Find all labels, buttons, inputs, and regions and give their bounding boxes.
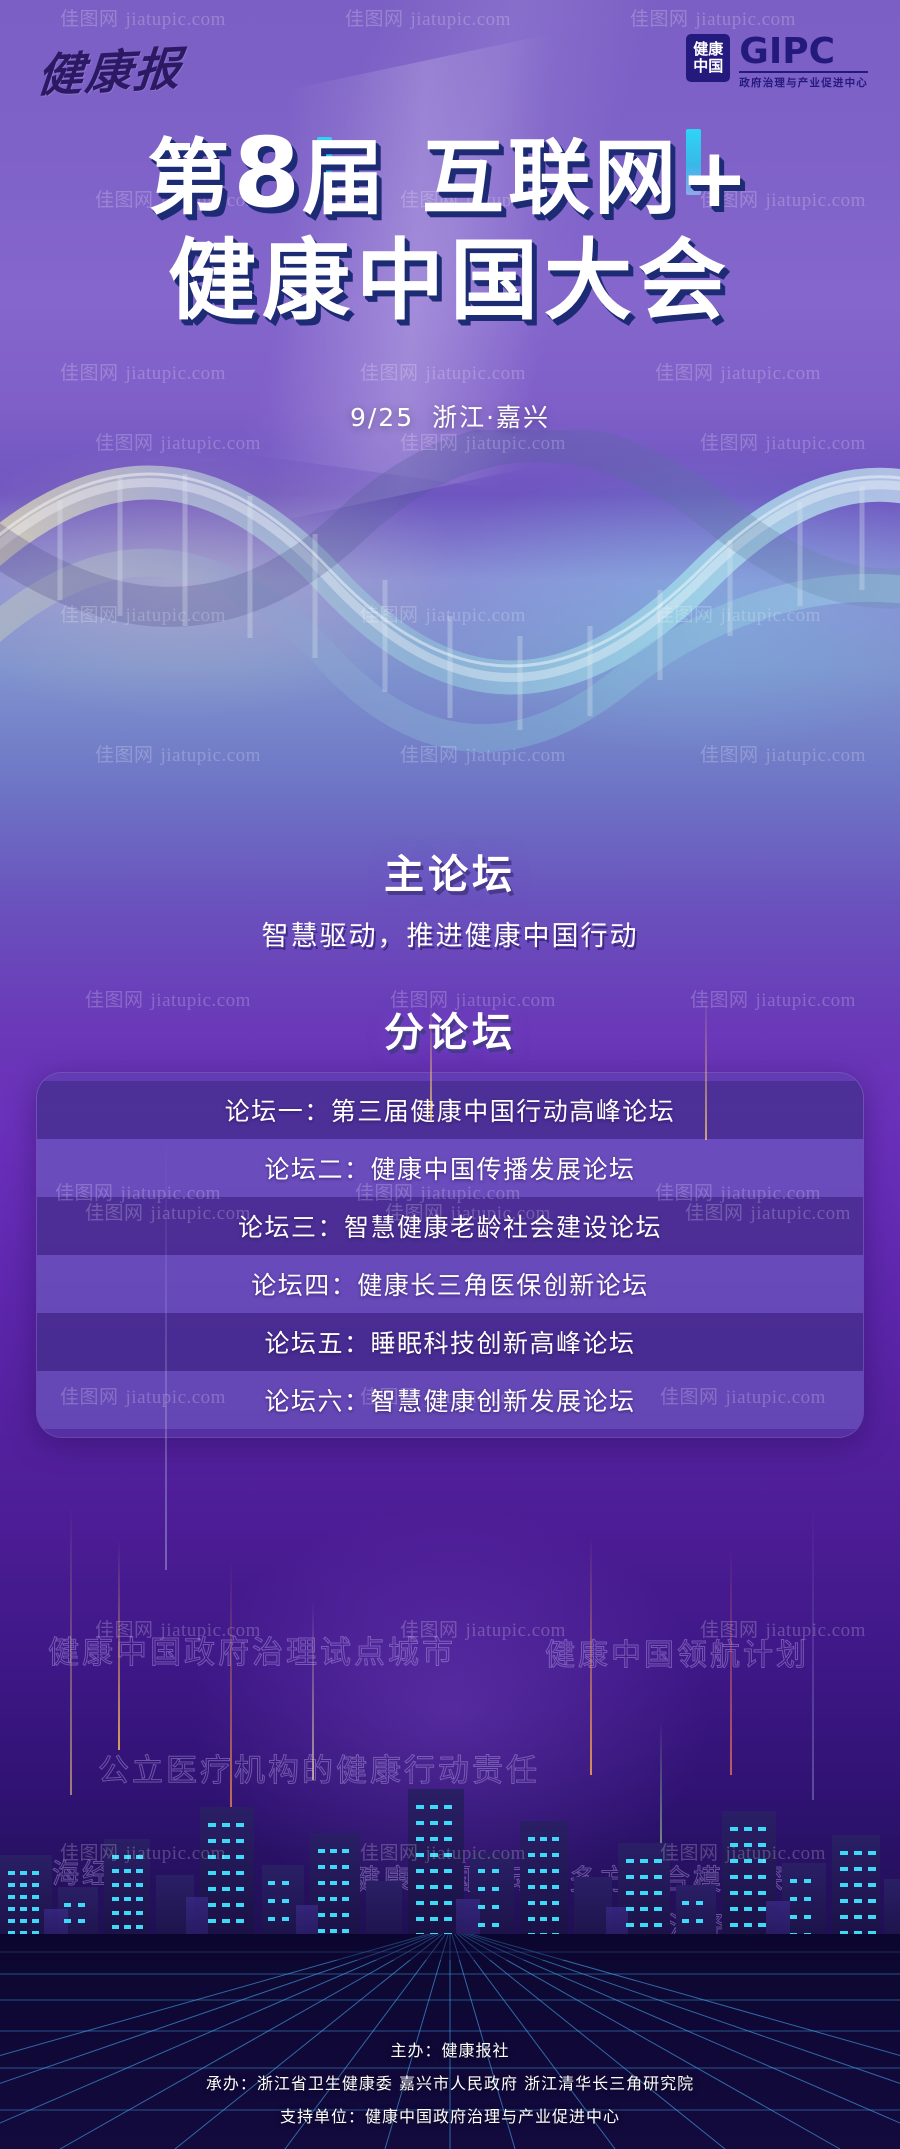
light-line [705, 990, 707, 1140]
main-forum-block: 主论坛 智慧驱动，推进健康中国行动 [0, 842, 900, 953]
title-block: 第8届互联网+ 健康中国大会 [0, 125, 900, 325]
background-topic-text: 健康中国领航计划 [545, 1630, 809, 1674]
forum-list-item[interactable]: 论坛四：健康长三角医保创新论坛 [37, 1255, 863, 1313]
gipc-subtitle: 政府治理与产业促进中心 [739, 75, 868, 90]
credit-organizer: 主办：健康报社 [0, 2037, 900, 2061]
title-prefix: 第 [147, 131, 233, 226]
gipc-badge-line1: 健康 [693, 41, 723, 58]
main-forum-theme: 智慧驱动，推进健康中国行动 [0, 914, 900, 953]
forum-list-item[interactable]: 论坛六：智慧健康创新发展论坛 [37, 1371, 863, 1429]
title-line-2: 健康中国大会 [0, 237, 900, 325]
sub-forum-block: 分论坛 [0, 1000, 900, 1058]
light-line [118, 1540, 120, 1750]
forum-list-item[interactable]: 论坛二：健康中国传播发展论坛 [37, 1139, 863, 1197]
poster-header: 健康报 健康 中国 GIPC 政府治理与产业促进中心 [0, 30, 900, 100]
poster-canvas: 健康报 健康 中国 GIPC 政府治理与产业促进中心 第8届互联网+ 健康中国大… [0, 0, 900, 2149]
gipc-badge-line2: 中国 [693, 58, 723, 75]
sub-forum-heading: 分论坛 [0, 1000, 900, 1058]
title-edition-number: 8 [233, 117, 302, 229]
light-line [590, 1535, 592, 1775]
dna-helix-graphic [0, 430, 900, 760]
main-forum-heading: 主论坛 [0, 842, 900, 900]
forum-list-item[interactable]: 论坛一：第三届健康中国行动高峰论坛 [37, 1081, 863, 1139]
event-date-location: 9/25浙江·嘉兴 [0, 398, 900, 434]
forum-list-item[interactable]: 论坛五：睡眠科技创新高峰论坛 [37, 1313, 863, 1371]
title-internet-plus: 互联网+ [422, 131, 753, 226]
background-topic-text: 健康中国政府治理试点城市 [48, 1627, 456, 1672]
title-line-1: 第8届互联网+ [0, 125, 900, 221]
event-location: 浙江·嘉兴 [432, 403, 550, 432]
credit-supporter: 支持单位：健康中国政府治理与产业促进中心 [0, 2103, 900, 2127]
gipc-badge-icon: 健康 中国 [686, 34, 730, 82]
light-line [730, 1545, 732, 1775]
title-suffix: 届 [302, 131, 388, 226]
health-news-logo: 健康报 [35, 32, 186, 105]
event-date: 9/25 [350, 403, 414, 432]
footer-credits: 主办：健康报社 承办：浙江省卫生健康委 嘉兴市人民政府 浙江清华长三角研究院 支… [0, 2037, 900, 2127]
light-line [165, 1140, 167, 1570]
gipc-divider [739, 71, 868, 73]
gipc-logo: 健康 中国 GIPC 政府治理与产业促进中心 [686, 34, 868, 90]
light-line [430, 1000, 432, 1120]
credit-co-organizers: 承办：浙江省卫生健康委 嘉兴市人民政府 浙江清华长三角研究院 [0, 2070, 900, 2094]
forum-list-item[interactable]: 论坛三：智慧健康老龄社会建设论坛 [37, 1197, 863, 1255]
sub-forum-list-panel: 论坛一：第三届健康中国行动高峰论坛 论坛二：健康中国传播发展论坛 论坛三：智慧健… [36, 1072, 864, 1438]
gipc-wordmark: GIPC [739, 34, 868, 69]
